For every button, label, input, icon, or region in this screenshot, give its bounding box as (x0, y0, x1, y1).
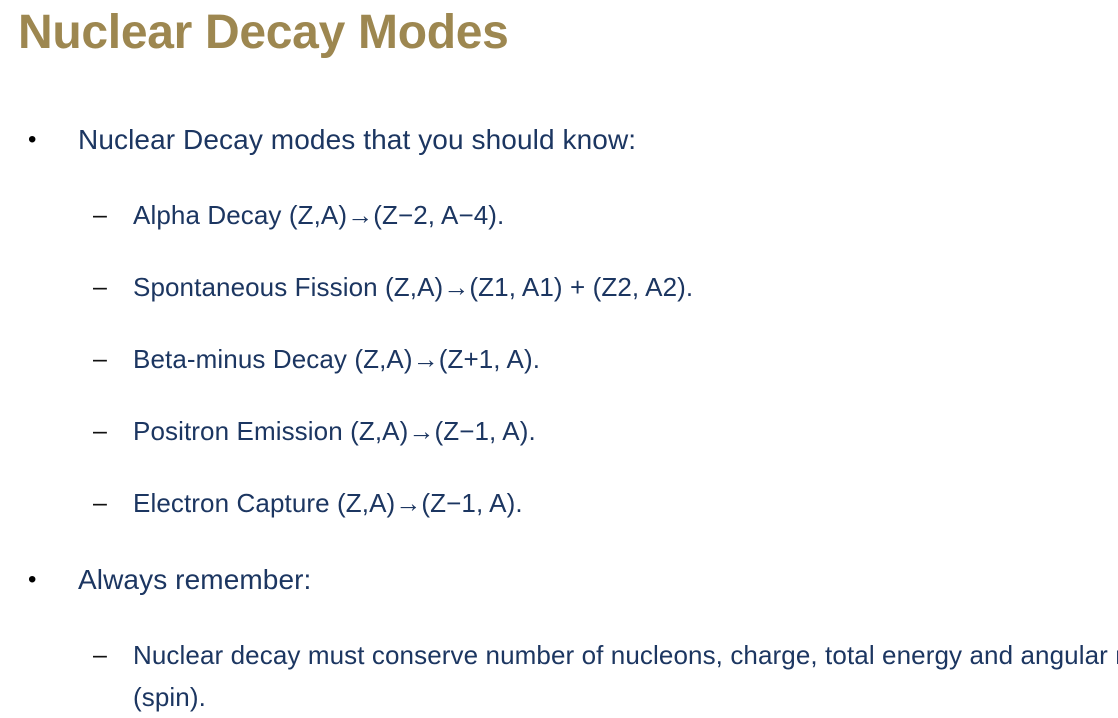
spacer (0, 242, 1118, 266)
list-item: – Nuclear decay must conserve number of … (0, 634, 1118, 718)
list-item: – Spontaneous Fission (Z,A)→(Z1, A1) + (… (0, 266, 1118, 314)
bullet-text: Nuclear decay must conserve number of nu… (133, 634, 1118, 718)
list-item: • Always remember: (0, 558, 1118, 610)
dash-marker-icon: – (93, 338, 117, 380)
list-item: • Nuclear Decay modes that you should kn… (0, 118, 1118, 170)
slide-canvas: Nuclear Decay Modes • Nuclear Decay mode… (0, 0, 1118, 663)
list-item: – Alpha Decay (Z,A)→(Z−2, A−4). (0, 194, 1118, 242)
slide-body: • Nuclear Decay modes that you should kn… (0, 118, 1118, 718)
spacer (0, 170, 1118, 194)
spacer (0, 530, 1118, 558)
dash-marker-icon: – (93, 266, 117, 308)
bullet-text: Always remember: (78, 558, 1118, 602)
bullet-text: Spontaneous Fission (Z,A)→(Z1, A1) + (Z2… (133, 266, 1118, 308)
bullet-text: Alpha Decay (Z,A)→(Z−2, A−4). (133, 194, 1118, 236)
bullet-text: Electron Capture (Z,A)→(Z−1, A). (133, 482, 1118, 524)
bullet-dot-icon: • (28, 118, 48, 162)
bullet-text: Nuclear Decay modes that you should know… (78, 118, 1118, 162)
dash-marker-icon: – (93, 194, 117, 236)
list-item: – Electron Capture (Z,A)→(Z−1, A). (0, 482, 1118, 530)
dash-marker-icon: – (93, 482, 117, 524)
dash-marker-icon: – (93, 410, 117, 452)
list-item: – Beta-minus Decay (Z,A)→(Z+1, A). (0, 338, 1118, 386)
spacer (0, 314, 1118, 338)
bullet-text: Positron Emission (Z,A)→(Z−1, A). (133, 410, 1118, 452)
bullet-text: Beta-minus Decay (Z,A)→(Z+1, A). (133, 338, 1118, 380)
spacer (0, 458, 1118, 482)
spacer (0, 386, 1118, 410)
spacer (0, 610, 1118, 634)
list-item: – Positron Emission (Z,A)→(Z−1, A). (0, 410, 1118, 458)
dash-marker-icon: – (93, 634, 117, 676)
bullet-dot-icon: • (28, 558, 48, 602)
page-title: Nuclear Decay Modes (18, 0, 1098, 70)
